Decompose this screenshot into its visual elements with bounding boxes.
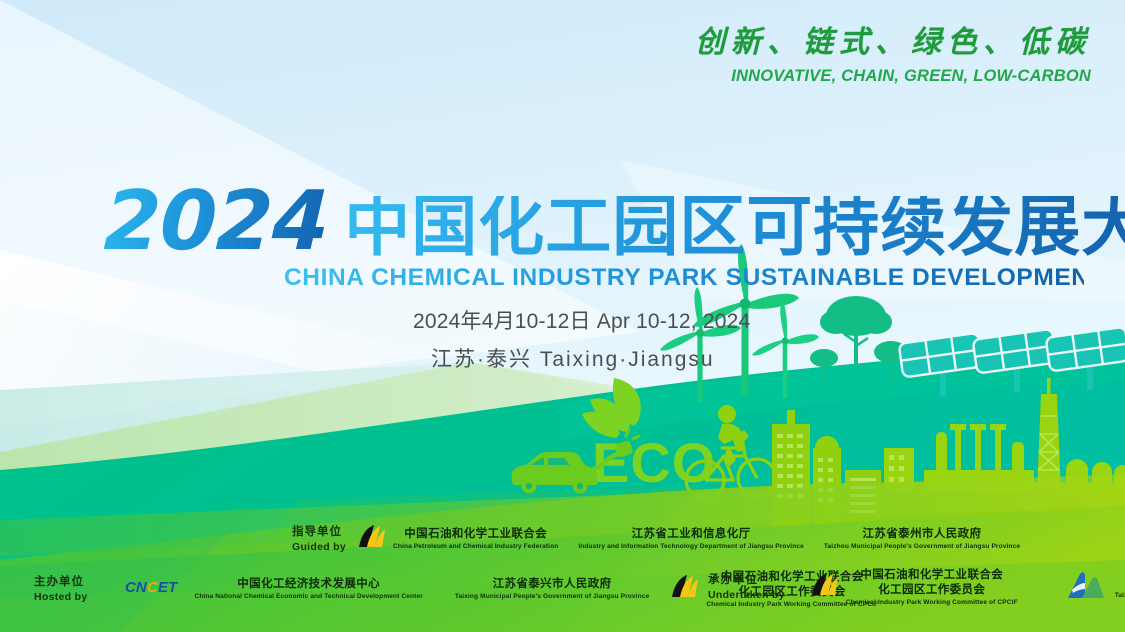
org-name-en: China Petroleum and Chemical Industry Fe… (393, 543, 558, 552)
conference-banner: ECO (0, 0, 1125, 632)
svg-text:ET: ET (158, 579, 179, 596)
hosted-by-label-en: Hosted by (34, 590, 87, 604)
org-item: 江苏省泰兴市人民政府 Taixing Municipal People's Go… (455, 577, 649, 602)
org-name-en: Taixing Economic Development Zone (1115, 592, 1125, 601)
org-item: CN C ET 中国化工经济技术发展中心 China National Chem… (125, 577, 422, 602)
org-name-cn: 中国化工经济技术发展中心 (194, 577, 422, 592)
conference-year: 2024 (103, 188, 330, 257)
undertaken-by-row: 承办单位 Undertaken by 中国石油和化学工业联合会 化工园区工作委员… (708, 568, 1125, 607)
org-names: 泰兴经济开发区 Taixing Economic Development Zon… (1115, 575, 1125, 601)
conference-title-english: CHINA CHEMICAL INDUSTRY PARK SUSTAINABLE… (284, 264, 1084, 292)
org-names: 江苏省工业和信息化厅 Industry and Information Tech… (578, 527, 804, 552)
guided-by-label-en: Guided by (292, 540, 346, 554)
guided-by-row: 指导单位 Guided by 中国石油和化学工业联合会 China Petrol… (292, 524, 1040, 555)
org-item: 江苏省工业和信息化厅 Industry and Information Tech… (578, 527, 804, 552)
cpcif-logo (356, 524, 386, 555)
org-names: 中国化工经济技术发展中心 China National Chemical Eco… (194, 577, 422, 602)
org-names: 中国石油和化学工业联合会 China Petroleum and Chemica… (393, 527, 558, 552)
hosted-by-label: 主办单位 Hosted by (34, 575, 87, 605)
undertaken-by-label-cn: 承办单位 (708, 573, 785, 589)
org-item: 泰兴经济开发区 Taixing Economic Development Zon… (1064, 570, 1125, 605)
org-name-en: Taixing Municipal People's Government of… (455, 593, 649, 602)
org-name-cn: 泰兴经济开发区 (1115, 575, 1125, 591)
event-location: 江苏·泰兴 Taixing·Jiangsu (431, 344, 750, 376)
title-block: 2024 中国化工园区可持续发展大会 CHINA CHEMICAL INDUST… (104, 188, 1084, 292)
cncet-logo: CN C ET (125, 578, 187, 601)
org-name-en: China National Chemical Economic and Tec… (194, 593, 422, 602)
title-row: 2024 中国化工园区可持续发展大会 (104, 188, 1084, 257)
org-name-en: Taizhou Municipal People's Government of… (824, 543, 1020, 552)
undertaken-by-label: 承办单位 Undertaken by (708, 573, 785, 603)
org-item: 中国石油和化学工业联合会 China Petroleum and Chemica… (356, 524, 558, 555)
org-name-cn: 江苏省泰兴市人民政府 (455, 577, 649, 592)
event-meta: 2024年4月10-12日 Apr 10-12, 2024 江苏·泰兴 Taix… (413, 306, 750, 375)
org-name-cn2: 化工园区工作委员会 (846, 583, 1018, 598)
slogan-block: 创新、链式、绿色、低碳 INNOVATIVE, CHAIN, GREEN, LO… (695, 26, 1091, 85)
event-date: 2024年4月10-12日 Apr 10-12, 2024 (413, 306, 750, 338)
org-name-cn: 江苏省工业和信息化厅 (578, 527, 804, 542)
org-name-en: Industry and Information Technology Depa… (578, 543, 804, 552)
org-names: 江苏省泰兴市人民政府 Taixing Municipal People's Go… (455, 577, 649, 602)
org-name-cn: 中国石油和化学工业联合会 (846, 568, 1018, 583)
slogan-chinese: 创新、链式、绿色、低碳 (695, 26, 1091, 61)
cpcif-logo (669, 574, 699, 605)
guided-by-label: 指导单位 Guided by (292, 525, 346, 555)
guided-by-label-cn: 指导单位 (292, 525, 346, 541)
undertaken-by-label-en: Undertaken by (708, 588, 785, 602)
slogan-english: INNOVATIVE, CHAIN, GREEN, LOW-CARBON (695, 67, 1091, 86)
svg-text:CN: CN (125, 579, 148, 596)
hosted-by-label-cn: 主办单位 (34, 575, 87, 591)
cpcif-logo (809, 572, 839, 603)
taixing-edz-logo (1064, 570, 1108, 605)
org-item: 中国石油和化学工业联合会 化工园区工作委员会 Chemical Industry… (809, 568, 1018, 607)
conference-title-chinese: 中国化工园区可持续发展大会 (344, 196, 1125, 257)
org-name-cn: 中国石油和化学工业联合会 (393, 527, 558, 542)
org-names: 中国石油和化学工业联合会 化工园区工作委员会 Chemical Industry… (846, 568, 1018, 607)
org-item: 江苏省泰州市人民政府 Taizhou Municipal People's Go… (824, 527, 1020, 552)
org-name-en: Chemical Industry Park Working Committee… (846, 599, 1018, 608)
org-names: 江苏省泰州市人民政府 Taizhou Municipal People's Go… (824, 527, 1020, 552)
org-name-cn: 江苏省泰州市人民政府 (824, 527, 1020, 542)
